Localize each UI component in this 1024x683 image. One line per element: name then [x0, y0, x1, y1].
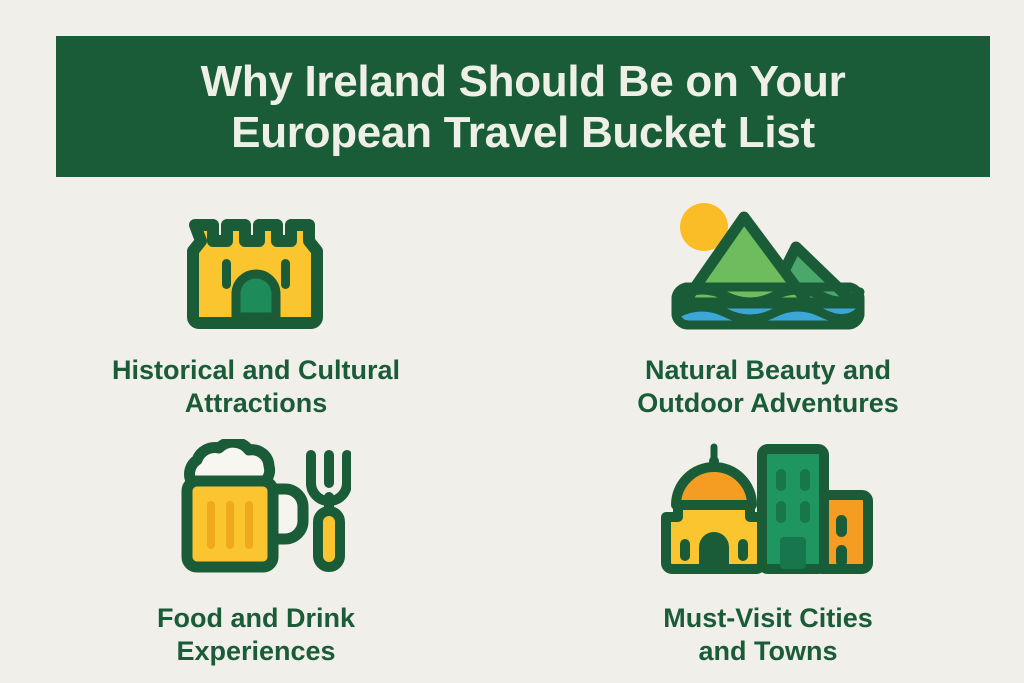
feature-item-natural-beauty: Natural Beauty and Outdoor Adventures	[512, 190, 1024, 426]
feature-grid: Historical and Cultural Attractions	[0, 190, 1024, 670]
tower-window-2	[800, 469, 810, 491]
infographic-poster: Why Ireland Should Be on Your European T…	[0, 0, 1024, 683]
feature-label-line-1: Must-Visit Cities	[663, 603, 873, 633]
fork-handle	[318, 511, 340, 567]
header-banner: Why Ireland Should Be on Your European T…	[56, 36, 990, 177]
page-title-line-2: European Travel Bucket List	[231, 107, 815, 158]
mountain-sun-icon	[668, 195, 868, 335]
feature-label-cities-towns: Must-Visit Cities and Towns	[663, 602, 873, 668]
feature-item-food-drink: Food and Drink Experiences	[0, 434, 512, 670]
domed-building-door	[699, 532, 729, 569]
feature-label-line-2: Experiences	[176, 636, 335, 666]
feature-label-line-1: Natural Beauty and	[645, 355, 891, 385]
orange-window-2	[836, 545, 847, 567]
beer-foam	[190, 442, 270, 481]
beer-stripe-3	[245, 501, 253, 549]
orange-window-1	[836, 515, 847, 537]
feature-item-cities-towns: Must-Visit Cities and Towns	[512, 434, 1024, 670]
domed-window-left	[680, 539, 690, 561]
fork-tines	[311, 455, 347, 483]
domed-window-right	[738, 539, 748, 561]
dome	[676, 467, 752, 505]
feature-label-line-1: Food and Drink	[157, 603, 355, 633]
castle-icon-wrapper	[181, 190, 331, 340]
feature-label-natural-beauty: Natural Beauty and Outdoor Adventures	[637, 354, 899, 420]
beer-mug-fork-icon	[161, 439, 351, 579]
feature-label-line-2: Outdoor Adventures	[637, 388, 899, 418]
tower-door	[780, 537, 806, 569]
beer-stripe-2	[226, 501, 234, 549]
tower-window-4	[800, 501, 810, 523]
cityscape-icon	[658, 439, 878, 579]
tower-window-3	[776, 501, 786, 523]
beer-mug-fork-icon-wrapper	[161, 434, 351, 584]
beer-stripe-1	[207, 501, 215, 549]
tower-window-1	[776, 469, 786, 491]
feature-label-line-2: Attractions	[185, 388, 328, 418]
castle-icon	[181, 195, 331, 335]
page-title-line-1: Why Ireland Should Be on Your	[201, 56, 846, 107]
castle-gate	[236, 274, 276, 317]
mountain-sun-icon-wrapper	[668, 190, 868, 340]
feature-label-line-2: and Towns	[698, 636, 837, 666]
feature-label-historical-cultural: Historical and Cultural Attractions	[112, 354, 400, 420]
castle-window-right	[281, 259, 290, 289]
cityscape-icon-wrapper	[658, 434, 878, 584]
castle-window-left	[222, 259, 231, 289]
feature-label-line-1: Historical and Cultural	[112, 355, 400, 385]
feature-item-historical-cultural: Historical and Cultural Attractions	[0, 190, 512, 426]
feature-label-food-drink: Food and Drink Experiences	[157, 602, 355, 668]
